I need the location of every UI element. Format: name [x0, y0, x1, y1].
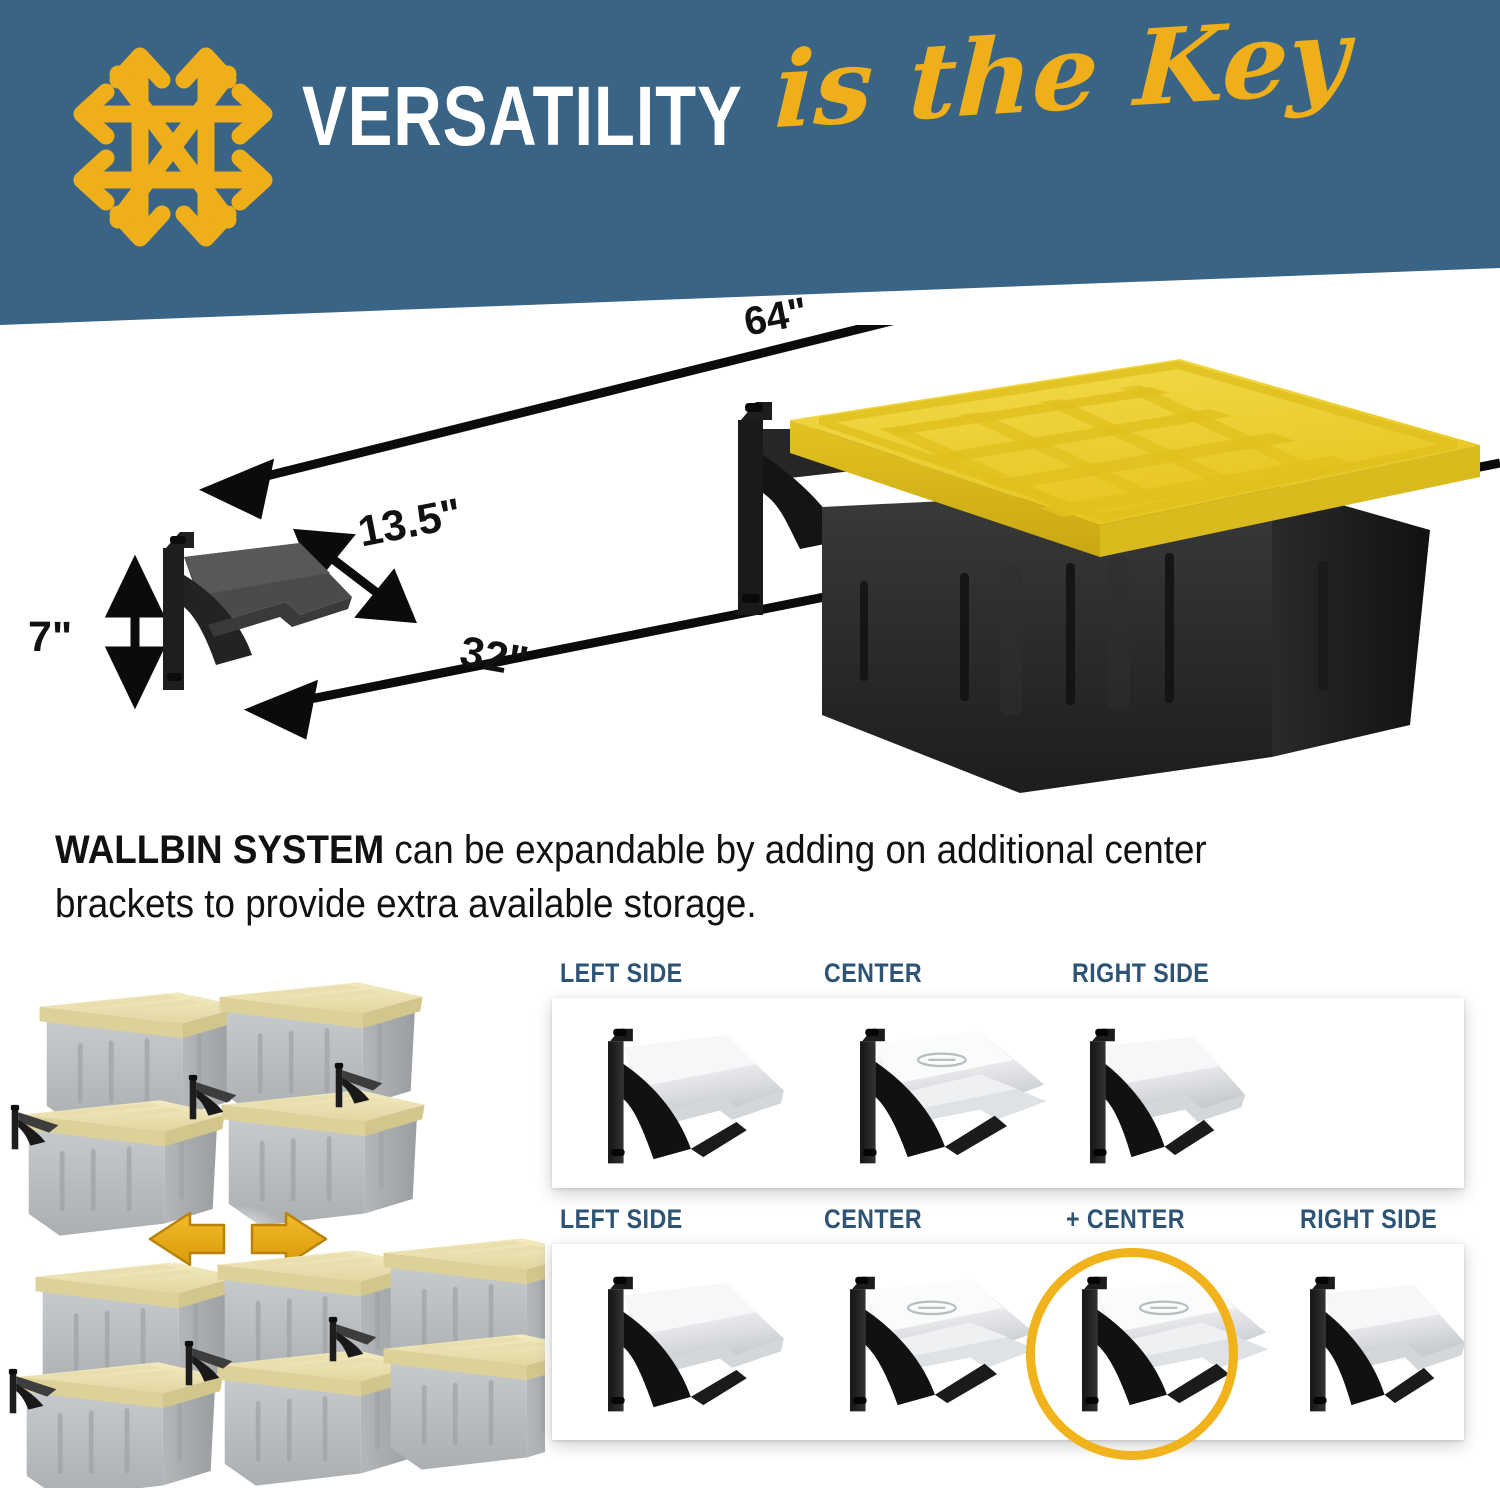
bin-stack-illustrations: [0, 975, 545, 1488]
body-copy: WALLBIN SYSTEM can be expandable by addi…: [55, 824, 1242, 931]
bracket-right-row1: [1090, 1029, 1245, 1164]
bracket-label-left-side-row2: LEFT SIDE: [560, 1204, 683, 1235]
body-copy-lead: WALLBIN SYSTEM: [55, 828, 384, 872]
bracket-left-row2: [608, 1277, 784, 1412]
bracket-label-right-side-row2: RIGHT SIDE: [1300, 1204, 1437, 1235]
bracket-left-row1: [608, 1029, 784, 1164]
header-banner: VERSATILITY is the Key: [0, 0, 1500, 325]
storage-tote-illustration: [790, 359, 1480, 793]
bracket-label-left-side-row1: LEFT SIDE: [560, 958, 683, 989]
bracket-center-row2: [850, 1277, 1036, 1412]
bracket-label-plus-center: + CENTER: [1066, 1204, 1185, 1235]
banner-title: VERSATILITY: [302, 74, 743, 158]
four-bin-arrangement: [11, 982, 425, 1235]
dimension-label-7: 7": [28, 616, 72, 659]
bracket-label-center-row2: CENTER: [824, 1204, 922, 1235]
banner-script-text: is the Key: [773, 1, 1352, 146]
bracket-right-row2: [1310, 1277, 1464, 1412]
bracket-panels: LEFT SIDE CENTER RIGHT SIDE LEFT SIDE CE…: [552, 958, 1500, 1488]
six-bin-arrangement: [9, 1238, 545, 1488]
infographic-root: VERSATILITY is the Key: [0, 0, 1500, 1488]
bracket-center-row1: [860, 1029, 1046, 1164]
multi-direction-arrows-icon: [48, 22, 298, 272]
highlight-ring-plus-center: [1026, 1248, 1238, 1460]
bracket-card-row2: [552, 1244, 1464, 1440]
hero-diagram: 64" 13.5" 32" 7": [0, 325, 1500, 795]
dimension-label-32: 32": [457, 630, 532, 684]
bracket-card-row1: [552, 998, 1464, 1188]
bracket-label-right-side-row1: RIGHT SIDE: [1072, 958, 1209, 989]
hero-illustration: [0, 325, 1500, 795]
bracket-label-center-row1: CENTER: [824, 958, 922, 989]
